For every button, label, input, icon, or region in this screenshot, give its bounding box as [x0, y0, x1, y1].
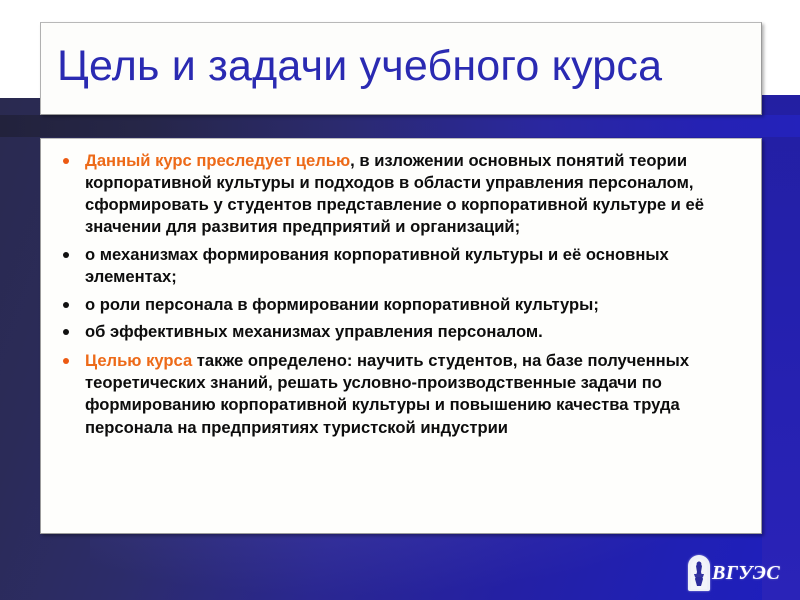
- list-item: Целью курса также определено: научить ст…: [47, 350, 745, 439]
- bullet-marker-icon: [63, 252, 69, 258]
- bullet-marker-icon: [63, 358, 69, 364]
- bullet-marker-icon: [63, 329, 69, 335]
- slide-canvas: Цель и задачи учебного курса Данный курс…: [0, 0, 800, 600]
- list-item: Данный курс преследует целью, в изложени…: [47, 150, 745, 239]
- page-title: Цель и задачи учебного курса: [41, 44, 761, 93]
- bullet-body-text: о механизмах формирования корпоративной …: [85, 245, 669, 286]
- list-item: об эффективных механизмах управления пер…: [47, 321, 745, 343]
- list-item: о роли персонала в формировании корпорат…: [47, 294, 745, 316]
- bullet-marker-icon: [63, 302, 69, 308]
- university-logo: ВГУЭС: [688, 552, 788, 594]
- slide-background-right-column: [762, 95, 800, 600]
- logo-text: ВГУЭС: [712, 563, 780, 583]
- bullet-body-text: об эффективных механизмах управления пер…: [85, 322, 543, 341]
- title-plate: Цель и задачи учебного курса: [40, 22, 762, 115]
- bullet-marker-icon: [63, 158, 69, 164]
- bullet-body-text: о роли персонала в формировании корпорат…: [85, 295, 599, 314]
- bullet-highlight-text: Данный курс преследует целью: [85, 151, 350, 170]
- bullet-list: Данный курс преследует целью, в изложени…: [47, 150, 745, 439]
- bullet-highlight-text: Целью курса: [85, 351, 192, 370]
- vgues-crest-emblem-icon: [688, 555, 710, 591]
- title-underband: [0, 115, 800, 137]
- content-plate: Данный курс преследует целью, в изложени…: [40, 138, 762, 534]
- list-item: о механизмах формирования корпоративной …: [47, 244, 745, 288]
